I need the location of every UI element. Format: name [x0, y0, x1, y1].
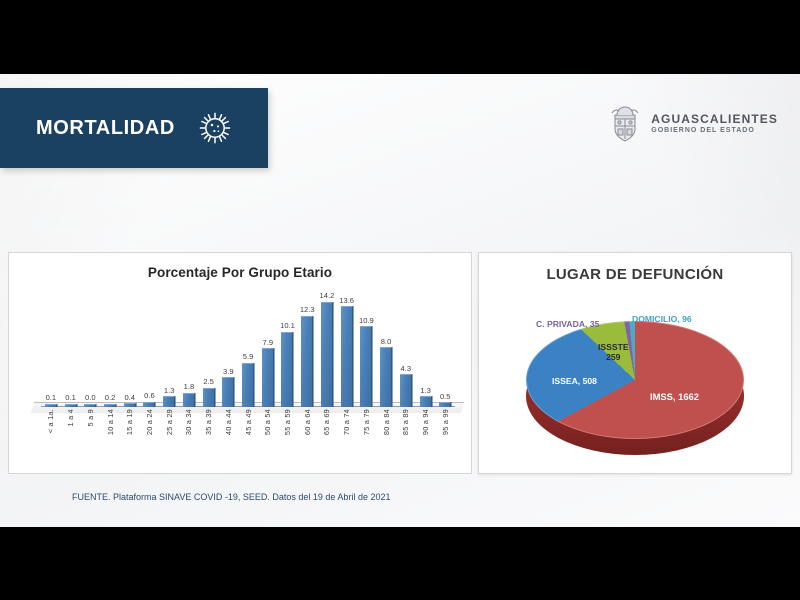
- bar-rect: [439, 402, 451, 407]
- x-axis-label-cell: 30 a 34: [179, 409, 199, 467]
- x-axis-label: 30 a 34: [184, 409, 193, 435]
- bar-rect: [203, 388, 215, 407]
- bar-column: 2.5: [199, 281, 219, 407]
- bar-value-label: 0.5: [440, 392, 451, 401]
- bar-value-label: 8.0: [381, 337, 392, 346]
- bar-rect: [281, 332, 293, 407]
- slide-stage: MORTALIDAD: [0, 0, 800, 600]
- bar-rect: [400, 374, 412, 407]
- x-axis-label-cell: 15 a 19: [120, 409, 140, 467]
- x-axis-label-cell: 70 a 74: [337, 409, 357, 467]
- bar-column: 10.1: [278, 281, 298, 407]
- bar-column: 1.3: [416, 281, 436, 407]
- bar-column: 13.6: [337, 281, 357, 407]
- bar-column: 0.1: [61, 281, 81, 407]
- bar-column: 4.3: [396, 281, 416, 407]
- x-axis-label: 40 a 44: [224, 409, 233, 435]
- bar-rect: [143, 402, 155, 407]
- x-axis-labels: < a 1a.1 a 45 a 910 a 1415 a 1920 a 2425…: [41, 409, 455, 467]
- x-axis-label: 20 a 24: [145, 409, 154, 435]
- x-axis-label: 95 a 99: [441, 409, 450, 435]
- mortalidad-title: MORTALIDAD: [36, 117, 175, 140]
- bar-value-label: 0.0: [85, 393, 96, 402]
- bar-column: 0.4: [120, 281, 140, 407]
- x-axis-label: 15 a 19: [125, 409, 134, 435]
- x-axis-label: 85 a 89: [401, 409, 410, 435]
- bar-rect: [321, 302, 333, 407]
- bar-column: 0.5: [435, 281, 455, 407]
- pie-label-issste-line2: 259: [606, 352, 620, 362]
- bar-value-label: 0.1: [46, 393, 57, 402]
- bar-value-label: 0.6: [144, 391, 155, 400]
- pie-label-issste-line1: ISSSTE: [598, 342, 629, 352]
- x-axis-label: 70 a 74: [342, 409, 351, 435]
- bar-column: 7.9: [258, 281, 278, 407]
- government-logo-text: AGUASCALIENTES GOBIERNO DEL ESTADO: [651, 113, 778, 135]
- x-axis-label-cell: 5 a 9: [80, 409, 100, 467]
- x-axis-label-cell: 25 a 29: [159, 409, 179, 467]
- pie-chart-title: LUGAR DE DEFUNCIÓN: [479, 266, 791, 283]
- x-axis-label-cell: < a 1a.: [41, 409, 61, 467]
- x-axis-label-cell: 40 a 44: [218, 409, 238, 467]
- x-axis-label: 65 a 69: [322, 409, 331, 435]
- bar-value-label: 1.3: [164, 386, 175, 395]
- bar-chart-title: Porcentaje Por Grupo Etario: [9, 265, 471, 280]
- bar-value-label: 2.5: [203, 377, 214, 386]
- bar-column: 0.1: [41, 281, 61, 407]
- bar-series: 0.10.10.00.20.40.61.31.82.53.95.97.910.1…: [41, 281, 455, 407]
- pie-label-issste: ISSSTE 259: [598, 343, 629, 363]
- bar-column: 1.8: [179, 281, 199, 407]
- bar-value-label: 10.9: [359, 316, 374, 325]
- bar-value-label: 3.9: [223, 367, 234, 376]
- pie-label-issea: ISSEA, 508: [552, 376, 597, 386]
- x-axis-label-cell: 55 a 59: [278, 409, 298, 467]
- government-logo: AGUASCALIENTES GOBIERNO DEL ESTADO: [608, 104, 778, 144]
- bar-value-label: 4.3: [401, 364, 412, 373]
- bar-rect: [222, 377, 234, 407]
- bar-rect: [183, 393, 195, 407]
- government-name: AGUASCALIENTES: [651, 113, 778, 126]
- bar-rect: [341, 306, 353, 407]
- bar-column: 0.0: [80, 281, 100, 407]
- pie-label-domicilio: DOMICILIO, 96: [632, 314, 692, 324]
- bar-column: 10.9: [357, 281, 377, 407]
- bar-value-label: 12.3: [300, 305, 315, 314]
- bar-value-label: 10.1: [280, 321, 295, 330]
- bar-column: 8.0: [376, 281, 396, 407]
- x-axis-label: 1 a 4: [66, 409, 75, 426]
- bar-column: 0.2: [100, 281, 120, 407]
- x-axis-label-cell: 75 a 79: [357, 409, 377, 467]
- x-axis-label-cell: 45 a 49: [238, 409, 258, 467]
- bar-column: 3.9: [218, 281, 238, 407]
- x-axis-label: 5 a 9: [86, 409, 95, 426]
- x-axis-label: 50 a 54: [263, 409, 272, 435]
- bar-value-label: 0.2: [105, 393, 116, 402]
- pie-label-imss: IMSS, 1662: [650, 391, 699, 402]
- bar-rect: [242, 363, 254, 407]
- presentation-slide: MORTALIDAD: [0, 74, 800, 527]
- bar-value-label: 1.3: [420, 386, 431, 395]
- bar-value-label: 7.9: [262, 338, 273, 347]
- x-axis-label: < a 1a.: [46, 409, 55, 433]
- bar-column: 1.3: [159, 281, 179, 407]
- bar-value-label: 14.2: [320, 291, 335, 300]
- x-axis-label: 80 a 84: [382, 409, 391, 435]
- bar-column: 12.3: [297, 281, 317, 407]
- bar-column: 0.6: [140, 281, 160, 407]
- bar-value-label: 0.1: [65, 393, 76, 402]
- bar-rect: [45, 404, 57, 408]
- x-axis-label: 60 a 64: [303, 409, 312, 435]
- bar-value-label: 5.9: [243, 352, 254, 361]
- x-axis-label: 25 a 29: [165, 409, 174, 435]
- bar-value-label: 0.4: [124, 393, 135, 402]
- bar-rect: [301, 316, 313, 407]
- bar-rect: [84, 404, 96, 408]
- bar-value-label: 13.6: [339, 296, 354, 305]
- x-axis-label-cell: 50 a 54: [258, 409, 278, 467]
- bar-rect: [420, 396, 432, 407]
- bar-column: 14.2: [317, 281, 337, 407]
- x-axis-label-cell: 90 a 94: [416, 409, 436, 467]
- x-axis-label: 55 a 59: [283, 409, 292, 435]
- source-note: FUENTE. Plataforma SINAVE COVID -19, SEE…: [72, 492, 390, 502]
- x-axis-label-cell: 95 a 99: [435, 409, 455, 467]
- x-axis-label-cell: 65 a 69: [317, 409, 337, 467]
- bar-column: 5.9: [238, 281, 258, 407]
- pie-chart-plot: IMSS, 1662 ISSEA, 508 ISSSTE 259 C. PRIV…: [479, 299, 791, 475]
- aguascalientes-coat-of-arms-icon: [608, 104, 642, 144]
- bar-value-label: 1.8: [184, 382, 195, 391]
- government-subtitle: GOBIERNO DEL ESTADO: [651, 127, 778, 135]
- x-axis-label: 90 a 94: [421, 409, 430, 435]
- bar-rect: [104, 404, 116, 408]
- pie-chart-panel: LUGAR DE DEFUNCIÓN IMSS, 1662 ISSEA, 508…: [478, 252, 792, 474]
- x-axis-label: 75 a 79: [362, 409, 371, 435]
- x-axis-label-cell: 85 a 89: [396, 409, 416, 467]
- bar-chart-panel: Porcentaje Por Grupo Etario 0.10.10.00.2…: [8, 252, 472, 474]
- pie-label-c-privada: C. PRIVADA, 35: [536, 319, 599, 329]
- x-axis-label-cell: 1 a 4: [61, 409, 81, 467]
- x-axis-label-cell: 10 a 14: [100, 409, 120, 467]
- x-axis-label-cell: 20 a 24: [140, 409, 160, 467]
- x-axis-label: 35 a 39: [204, 409, 213, 435]
- x-axis-label: 45 a 49: [244, 409, 253, 435]
- x-axis-label-cell: 35 a 39: [199, 409, 219, 467]
- bar-rect: [65, 404, 77, 408]
- pie-3d-graphic: IMSS, 1662 ISSEA, 508 ISSSTE 259 C. PRIV…: [526, 321, 744, 451]
- x-axis-label-cell: 60 a 64: [297, 409, 317, 467]
- bar-rect: [124, 403, 136, 407]
- mortalidad-banner: MORTALIDAD: [0, 88, 268, 168]
- x-axis-label-cell: 80 a 84: [376, 409, 396, 467]
- bar-rect: [380, 347, 392, 407]
- bar-rect: [360, 326, 372, 407]
- x-axis-label: 10 a 14: [106, 409, 115, 435]
- bar-chart-plot: 0.10.10.00.20.40.61.31.82.53.95.97.910.1…: [23, 287, 463, 469]
- bar-rect: [163, 396, 175, 407]
- coronavirus-icon: [175, 108, 235, 148]
- bar-rect: [262, 348, 274, 407]
